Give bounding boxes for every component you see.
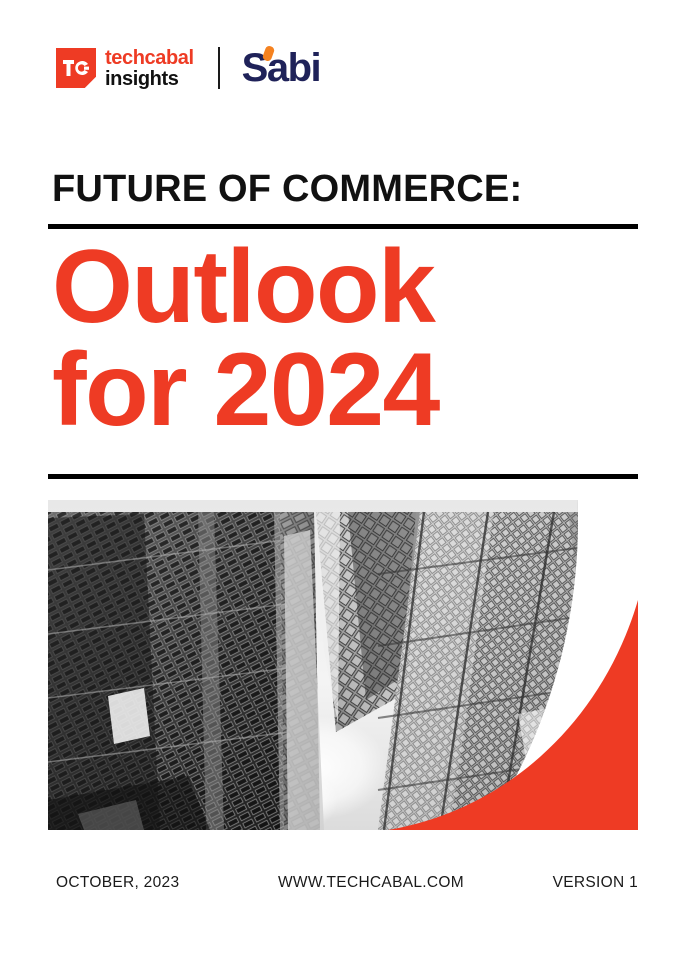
techcabal-wordmark-line1: techcabal <box>105 48 194 68</box>
techcabal-badge-icon <box>56 48 96 88</box>
logo-bar: techcabal insights Sabi <box>56 44 320 92</box>
techcabal-wordmark-line2: insights <box>105 69 194 89</box>
sabi-logo-text: Sabi <box>242 48 320 88</box>
cover-photo <box>48 500 638 830</box>
cover-page: techcabal insights Sabi FUTURE OF COMMER… <box>0 0 690 976</box>
footer-date: OCTOBER, 2023 <box>56 874 179 892</box>
page-title-line2: for 2024 <box>52 339 439 442</box>
footer-version: VERSION 1 <box>553 874 638 892</box>
footer: OCTOBER, 2023 WWW.TECHCABAL.COM VERSION … <box>56 874 638 896</box>
footer-website[interactable]: WWW.TECHCABAL.COM <box>278 874 464 892</box>
page-title: Outlook for 2024 <box>52 236 439 442</box>
sabi-logo: Sabi <box>242 48 320 88</box>
page-kicker: FUTURE OF COMMERCE: <box>52 170 522 208</box>
divider-rule-bottom <box>48 474 638 479</box>
techcabal-wordmark: techcabal insights <box>105 48 194 89</box>
page-title-line1: Outlook <box>52 236 439 339</box>
logo-divider <box>218 47 220 89</box>
